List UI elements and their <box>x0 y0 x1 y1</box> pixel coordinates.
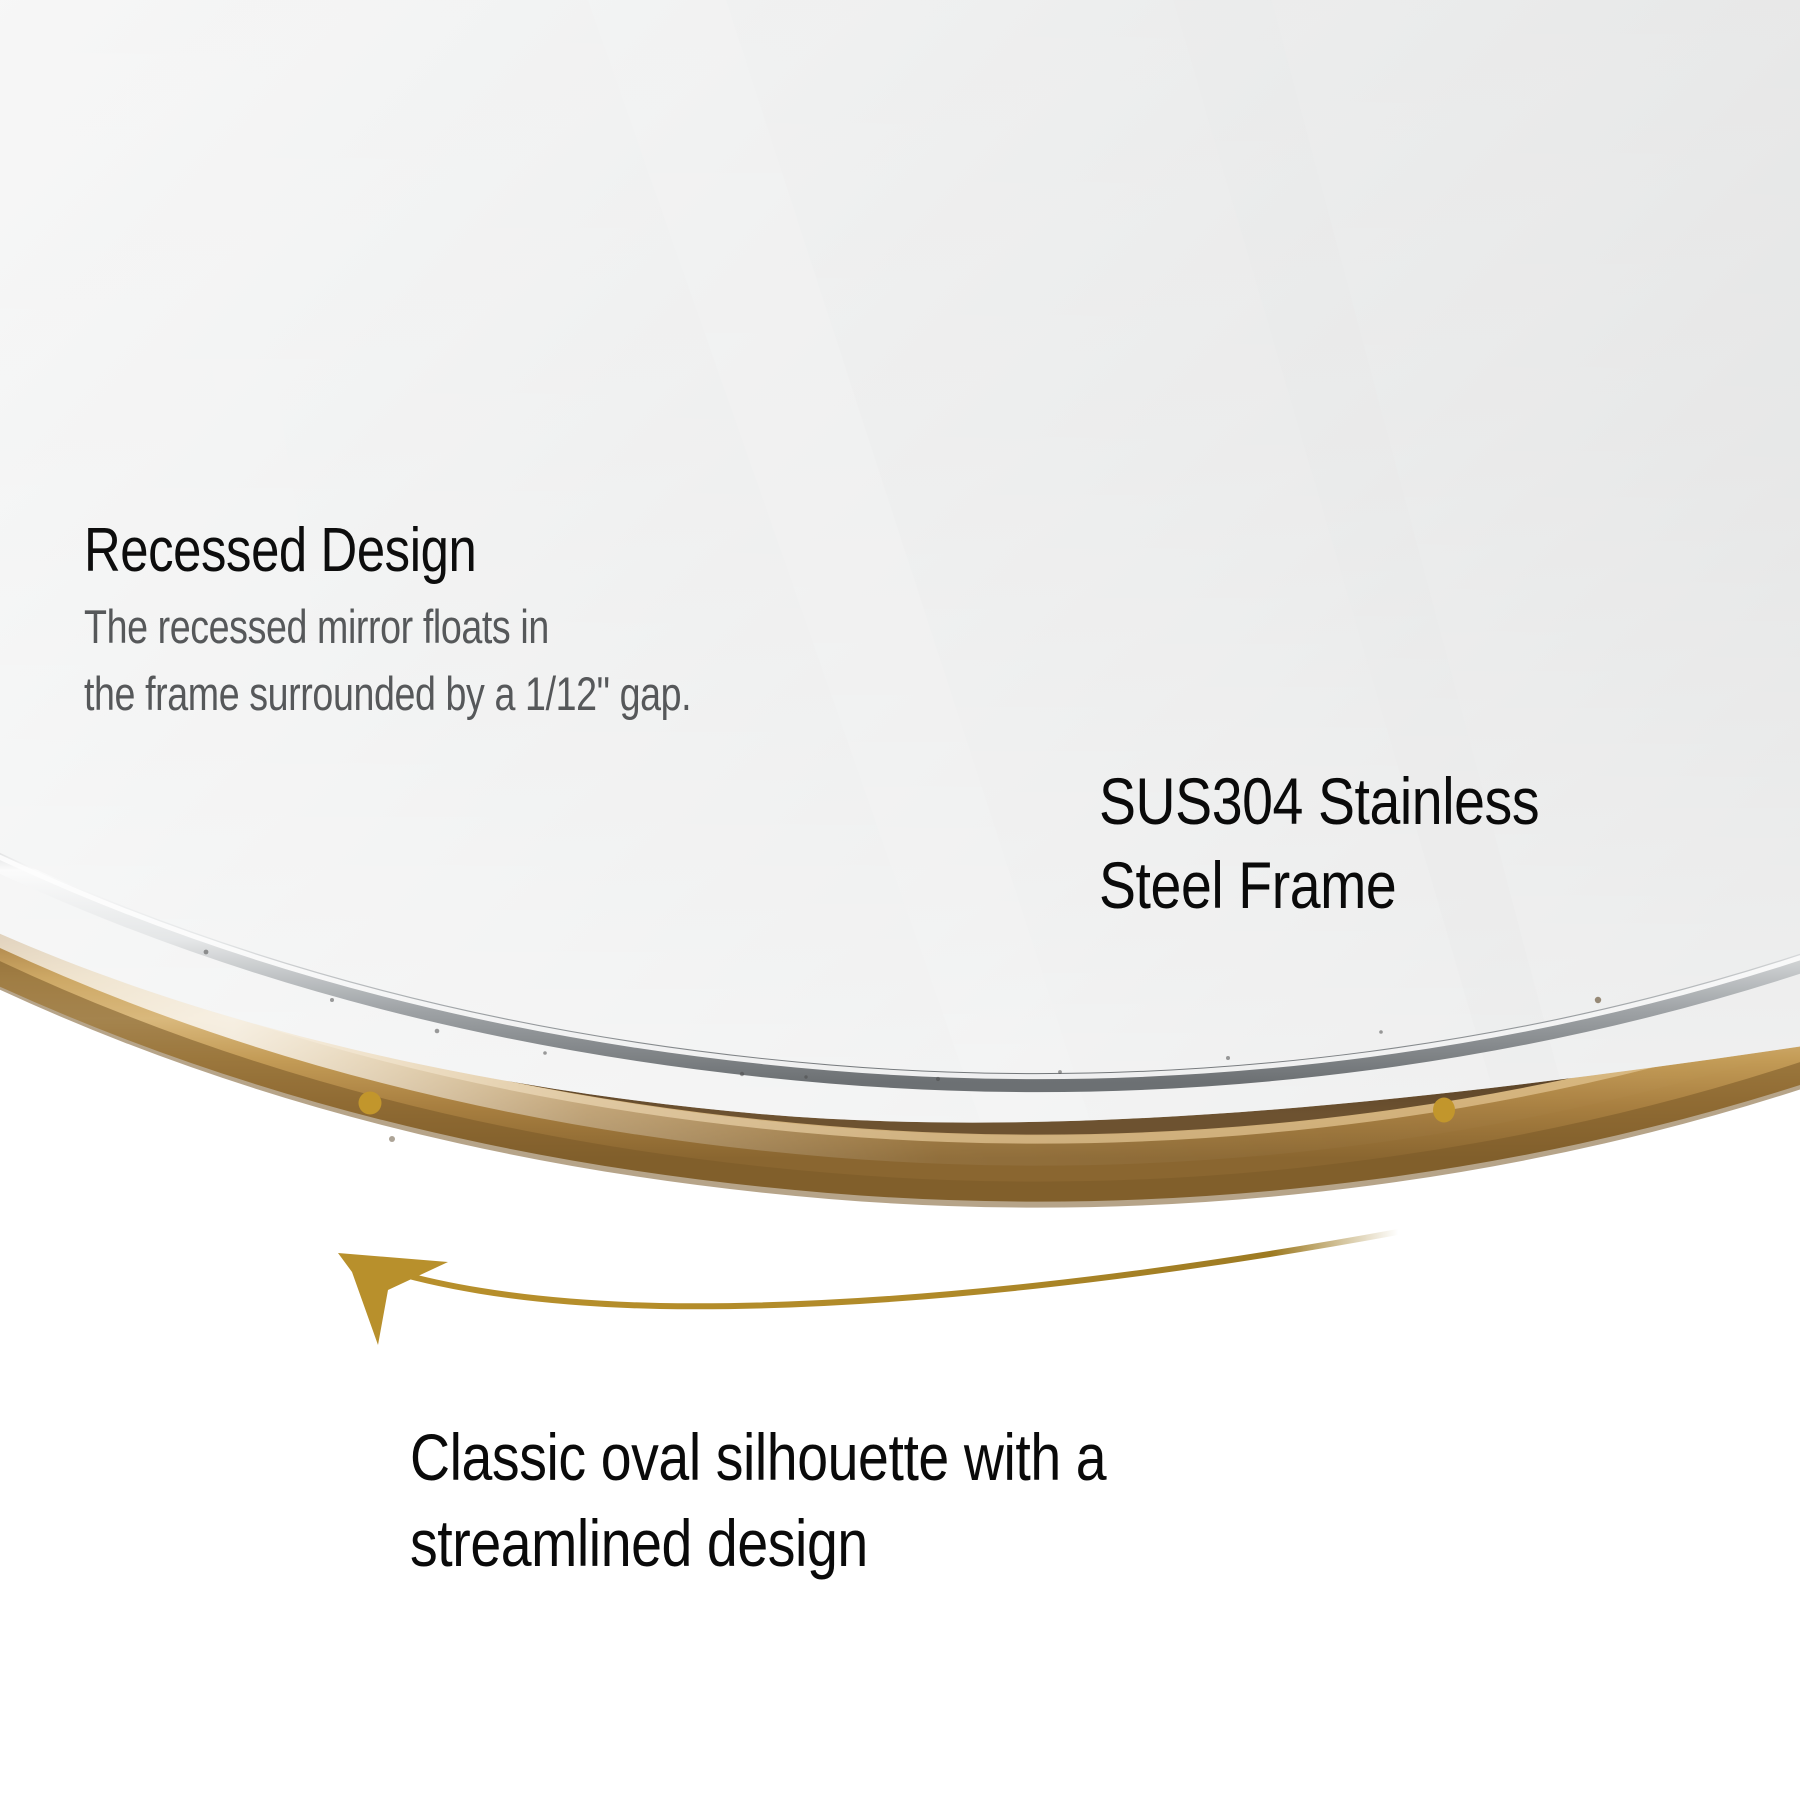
callout-title-recessed-design: Recessed Design <box>84 520 476 582</box>
callout-title-oval-silhouette-line-2: streamlined design <box>410 1510 868 1576</box>
callout-title-stainless-steel-frame-line-2: Steel Frame <box>1099 852 1396 918</box>
mirror-product-photo <box>0 0 1800 1800</box>
callout-body-recessed-design-line-2: the frame surrounded by a 1/12" gap. <box>84 670 691 717</box>
callout-body-recessed-design-line-1: The recessed mirror floats in <box>84 603 549 650</box>
callout-title-stainless-steel-frame-line-1: SUS304 Stainless <box>1099 768 1539 834</box>
product-feature-image: Recessed Design The recessed mirror floa… <box>0 0 1800 1800</box>
callout-title-oval-silhouette-line-1: Classic oval silhouette with a <box>410 1424 1106 1490</box>
